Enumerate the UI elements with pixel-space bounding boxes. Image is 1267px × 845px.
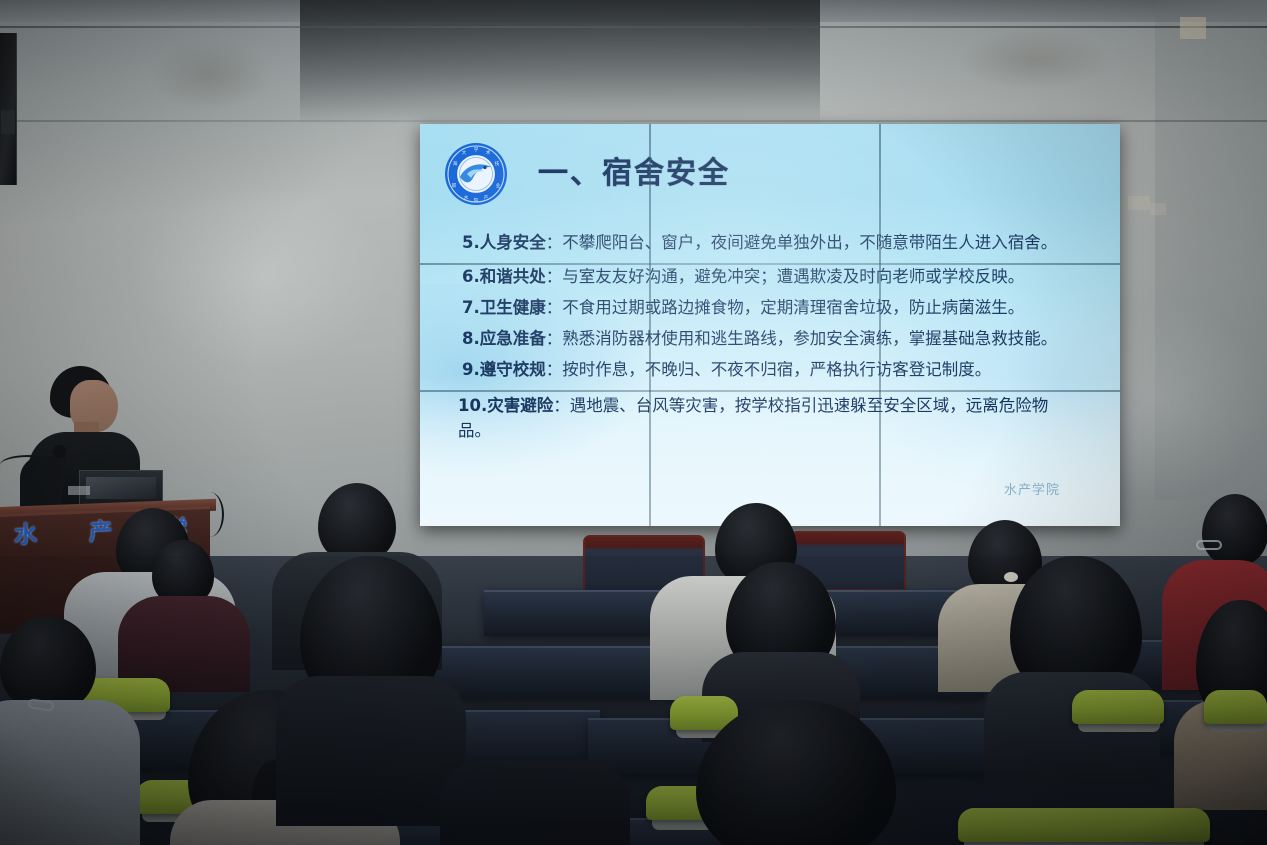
list-item-label: 人身安全 [480, 233, 546, 252]
audience-head [318, 483, 396, 563]
display-seam-horizontal [420, 263, 1120, 265]
wall-stain [150, 40, 270, 110]
display-seam-vertical [879, 124, 881, 526]
svg-text:水: 水 [464, 194, 469, 201]
list-item-separator: ： [546, 233, 563, 252]
wall-paper-note [1150, 203, 1166, 215]
slide-watermark: 水产学院 [1004, 479, 1060, 498]
svg-text:产: 产 [484, 194, 489, 201]
list-item-text: 不攀爬阳台、窗户，夜间避免单独外出，不随意带陌生人进入宿舍。 [562, 233, 1057, 252]
audience-head-foreground [0, 616, 96, 712]
wall-stain [960, 30, 1110, 90]
list-item-label: 灾害避险 [487, 396, 553, 415]
list-item-number: 5. [462, 233, 480, 252]
list-item-separator: ： [546, 360, 563, 379]
list-item-text: 与室友友好沟通，避免冲突；遭遇欺凌及时向老师或学校反映。 [562, 267, 1024, 286]
list-item-number: 7. [462, 298, 480, 317]
svg-text:大: 大 [462, 149, 467, 156]
glasses-icon [1196, 540, 1222, 550]
slide-header: 学 大 术 海 技 职 业 水 产 院 一、宿舍安全 [420, 124, 1120, 220]
list-item-separator: ： [546, 329, 563, 348]
face-mask-icon [1004, 572, 1018, 582]
laptop-label [68, 486, 90, 495]
podium-cable [196, 492, 224, 537]
list-item-text: 按时作息，不晚归、不夜不归宿，严格执行访客登记制度。 [562, 360, 991, 379]
wall-right-column [1155, 0, 1267, 500]
list-item: 8.应急准备：熟悉消防器材使用和逃生路线，参加安全演练，掌握基础急救技能。 [440, 326, 1100, 351]
list-item-number: 10. [458, 396, 487, 415]
audience-torso [0, 700, 140, 845]
wall-paper-note [1128, 196, 1150, 210]
seat-back-green[interactable] [1072, 690, 1164, 724]
university-seal-icon: 学 大 术 海 技 职 业 水 产 院 [443, 141, 509, 207]
seat-back-green[interactable] [958, 808, 1210, 842]
wall-seam-top [0, 26, 1267, 28]
wall-paper-note [1180, 17, 1206, 39]
speaker-grille-icon [1, 110, 15, 134]
svg-text:院: 院 [474, 197, 479, 204]
slide-title: 一、宿舍安全 [538, 148, 730, 192]
list-item-label: 卫生健康 [480, 298, 546, 317]
video-wall-display[interactable]: 学 大 术 海 技 职 业 水 产 院 一、宿舍安全 [420, 124, 1120, 526]
wall-speaker [0, 33, 17, 185]
seat-back-green[interactable] [1204, 690, 1267, 724]
svg-text:技: 技 [495, 160, 500, 167]
list-item-number: 8. [462, 329, 480, 348]
audience-torso [440, 760, 630, 845]
list-item-label: 应急准备 [480, 329, 546, 348]
svg-text:海: 海 [453, 160, 458, 167]
svg-text:业: 业 [496, 182, 501, 189]
list-item-number: 6. [462, 267, 480, 286]
svg-text:职: 职 [452, 183, 457, 189]
list-item-separator: ： [553, 396, 570, 415]
audience-head [1202, 494, 1267, 566]
svg-text:术: 术 [486, 149, 491, 156]
list-item-text: 熟悉消防器材使用和逃生路线，参加安全演练，掌握基础急救技能。 [562, 329, 1057, 348]
list-item-separator: ： [546, 267, 563, 286]
wall-shadow [300, 0, 820, 125]
audience-torso [276, 676, 466, 826]
list-item: 5.人身安全：不攀爬阳台、窗户，夜间避免单独外出，不随意带陌生人进入宿舍。 [440, 230, 1100, 255]
presentation-slide: 学 大 术 海 技 职 业 水 产 院 一、宿舍安全 [420, 124, 1120, 526]
list-item-separator: ： [546, 298, 563, 317]
list-item-text: 不食用过期或路边摊食物，定期清理宿舍垃圾，防止病菌滋生。 [562, 298, 1024, 317]
list-item: 9.遵守校规：按时作息，不晚归、不夜不归宿，严格执行访客登记制度。 [440, 357, 1100, 382]
list-item-label: 和谐共处 [480, 267, 546, 286]
svg-text:学: 学 [474, 146, 479, 153]
list-item: 7.卫生健康：不食用过期或路边摊食物，定期清理宿舍垃圾，防止病菌滋生。 [440, 295, 1100, 320]
display-seam-horizontal [420, 390, 1120, 392]
list-item-number: 9. [462, 360, 480, 379]
lecture-hall-scene: 学 大 术 海 技 职 业 水 产 院 一、宿舍安全 [0, 0, 1267, 845]
list-item: 10.灾害避险：遇地震、台风等灾害，按学校指引迅速躲至安全区域，远离危险物品。 [440, 393, 1080, 443]
wall-seam-mid [0, 120, 1267, 122]
list-item-label: 遵守校规 [480, 360, 546, 379]
display-seam-vertical [649, 124, 651, 526]
laptop-screen [86, 477, 156, 499]
list-item: 6.和谐共处：与室友友好沟通，避免冲突；遭遇欺凌及时向老师或学校反映。 [440, 264, 1100, 289]
